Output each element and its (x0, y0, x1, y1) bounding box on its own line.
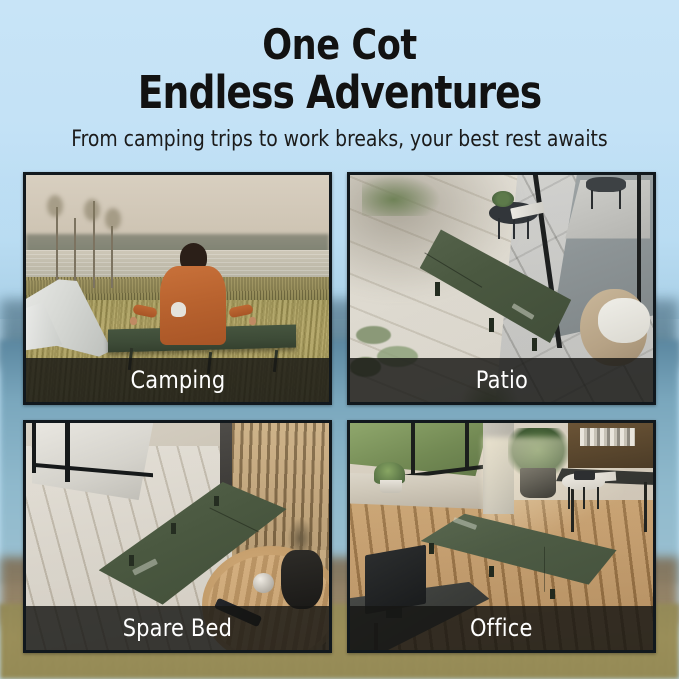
stool-leg (619, 190, 621, 209)
cot-leg (489, 318, 494, 332)
stool-leg (597, 487, 599, 510)
tree-canopy (47, 195, 63, 217)
door-frame (637, 175, 641, 311)
panel-label-text: Office (470, 614, 533, 642)
stool-leg (591, 190, 593, 209)
cot-leg (532, 338, 537, 351)
office-plant-pot (380, 480, 401, 494)
desk-leg (644, 482, 647, 532)
person-hand-right (249, 317, 256, 325)
promo-image-root: One Cot Endless Adventures From camping … (0, 0, 679, 679)
stool-leg (583, 487, 585, 510)
panel-label-camping: Camping (26, 358, 329, 402)
patio-foliage-top (362, 175, 441, 216)
patio-chair-cushion (598, 298, 650, 343)
leaf-cluster (356, 326, 391, 344)
cot-leg (171, 523, 176, 534)
tree-canopy (105, 208, 121, 230)
panel-label-patio: Patio (350, 358, 653, 402)
panel-label-office: Office (350, 606, 653, 650)
stool-objects (574, 471, 595, 480)
page-title: One Cot Endless Adventures (24, 0, 655, 117)
office-books (580, 428, 635, 446)
panel-camping[interactable]: Camping (23, 172, 332, 405)
panel-label-spare-bed: Spare Bed (26, 606, 329, 650)
window-frame (411, 423, 415, 477)
panel-spare-bed[interactable]: Spare Bed (23, 420, 332, 653)
cot-leg (550, 589, 555, 599)
camping-cap (171, 302, 187, 316)
cot-leg (129, 555, 134, 566)
stool-leg (568, 487, 570, 510)
panel-patio[interactable]: Patio (347, 172, 656, 405)
scene-grid: Camping (23, 172, 656, 653)
cot-leg (429, 543, 434, 554)
patio-indoor-stool (586, 177, 625, 209)
panel-label-text: Camping (130, 366, 225, 394)
person-jacket (160, 266, 226, 346)
tree-canopy (84, 199, 100, 221)
table-leg (527, 218, 529, 238)
panel-label-text: Spare Bed (123, 614, 232, 642)
table-leg (498, 218, 500, 238)
table-leg (513, 218, 515, 238)
decor-vase (281, 550, 323, 609)
patio-potted-plant (492, 191, 513, 207)
window-frame (465, 423, 469, 468)
title-line-1: One Cot (24, 0, 655, 68)
cot-leg (489, 566, 494, 577)
tree-trunk (111, 226, 113, 289)
cot-leg (435, 282, 440, 296)
panel-label-text: Patio (475, 366, 527, 394)
title-line-2: Endless Adventures (24, 68, 655, 117)
office-monitor (365, 545, 426, 615)
panel-office[interactable]: Office (347, 420, 656, 653)
page-subtitle: From camping trips to work breaks, your … (17, 127, 662, 152)
door-frame (65, 423, 70, 482)
tree-trunk (56, 207, 58, 289)
person-hand-left (130, 317, 137, 325)
header: One Cot Endless Adventures From camping … (0, 0, 679, 166)
cot-leg (214, 496, 219, 506)
office-window-sill (350, 473, 495, 509)
camping-person (153, 243, 232, 345)
tree-trunk (74, 218, 76, 289)
